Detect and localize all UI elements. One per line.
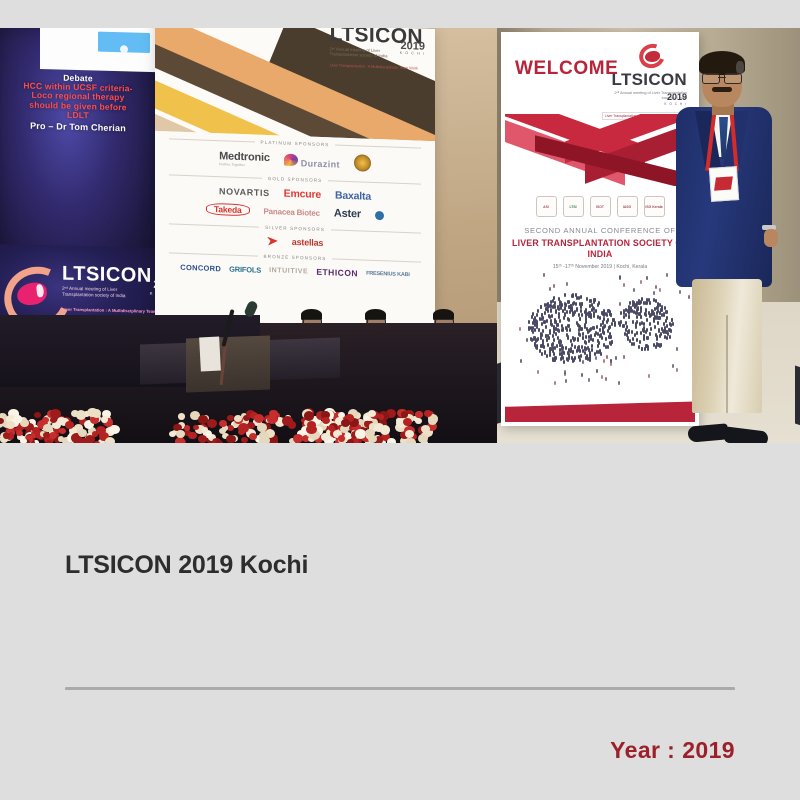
association-badge-ltsi: LTSI xyxy=(563,196,584,217)
sponsor-logo-aster: Aster xyxy=(334,207,361,220)
year-label: Year : xyxy=(610,737,675,763)
slide-line-6: Pro – Dr Tom Cherian xyxy=(0,121,162,135)
sponsor-banner: LTSICON 2ⁿᵈ Annual meeting of Liver Tran… xyxy=(155,28,435,329)
delegate-person xyxy=(666,43,786,443)
person-conference-badge xyxy=(709,166,739,202)
person-hair xyxy=(699,51,745,75)
sponsor-logo-baxalta: Baxalta xyxy=(335,189,371,202)
person-leg-split xyxy=(726,315,728,413)
slide-blue-dot xyxy=(120,45,128,53)
liver-crowd-artwork xyxy=(519,272,689,382)
durazint-swirl-icon xyxy=(284,153,298,166)
sponsor-logo-concord: CONCORD xyxy=(180,262,221,272)
association-badge-isg-kerala: ISG Kerala xyxy=(644,196,665,217)
sponsor-logo-intuitive: INTUITIVE xyxy=(269,267,308,275)
page-title: LTSICON 2019 Kochi xyxy=(65,551,308,580)
welcome-standee-photo: WELCOME LTSICON 2ⁿᵈ Annual meeting of Li… xyxy=(497,28,800,443)
sponsor-logo-emcure: Emcure xyxy=(284,188,321,201)
association-badge-iasg: IASG xyxy=(617,196,638,217)
ltsicon-logo-icon xyxy=(639,44,665,68)
year-value: 2019 xyxy=(682,737,735,763)
banner-ltsicon-wordmark: LTSICON 2ⁿᵈ Annual meeting of Liver Tran… xyxy=(330,28,423,61)
sponsor-logo-medtronic: Medtronic Further, Together xyxy=(219,150,270,168)
projection-slide-text: Debate HCC within UCSF criteria- Loco re… xyxy=(0,72,162,135)
person-moustache xyxy=(712,87,732,92)
screen-wordmark-subtitle: 2ⁿᵈ Annual meeting of Liver Transplantat… xyxy=(62,286,128,299)
banner-wordmark-city: K O C H I xyxy=(400,51,425,56)
flower-arrangement xyxy=(300,407,430,443)
sponsor-name-durazint: Durazint xyxy=(301,158,340,169)
slide-white-area xyxy=(40,28,160,72)
person-glasses-icon xyxy=(702,73,742,82)
screen-wordmark-text: LTSICON xyxy=(62,264,152,286)
divider xyxy=(65,687,735,690)
welcome-heading: WELCOME xyxy=(515,58,618,80)
year-line: Year :2019 xyxy=(610,737,735,764)
sponsor-name-aster: Aster xyxy=(334,207,361,220)
aster-dot-icon xyxy=(375,210,384,219)
person-hand xyxy=(764,229,778,247)
banner-wordmark-subtitle: 2ⁿᵈ Annual meeting of Liver Transplantat… xyxy=(330,46,394,59)
sponsor-logo-ethicon: ETHICON xyxy=(316,267,358,279)
standee-foot-right xyxy=(795,366,800,427)
sponsor-banner-header: LTSICON 2ⁿᵈ Annual meeting of Liver Tran… xyxy=(155,28,435,141)
sponsor-logo-panacea: Panacea Biotec xyxy=(264,206,320,217)
sponsor-logo-novartis: NOVARTIS xyxy=(219,186,270,198)
sponsor-logo-takeda: Takeda xyxy=(206,203,249,217)
conference-hall-photo: Debate HCC within UCSF criteria- Loco re… xyxy=(0,28,497,443)
ltsicon-logo-icon xyxy=(4,266,56,315)
astellas-mark-icon xyxy=(267,236,278,245)
photo-collage: Debate HCC within UCSF criteria- Loco re… xyxy=(0,28,800,443)
page-root: Debate HCC within UCSF criteria- Loco re… xyxy=(0,0,800,800)
person-shoe-right xyxy=(723,426,769,443)
association-badge-asi: ASI xyxy=(536,196,557,217)
sponsor-logo-astellas: astellas xyxy=(292,237,323,248)
screen-ltsicon-wordmark: LTSICON 2ⁿᵈ Annual meeting of Liver Tran… xyxy=(62,264,152,300)
podium-paper xyxy=(199,336,221,371)
person-shoe-left xyxy=(687,423,728,442)
sponsor-logo-fresenius-kabi: FRESENIUS KABI xyxy=(366,271,410,279)
association-badge-isot: ISOT xyxy=(590,196,611,217)
screen-wordmark-tagline: Liver Transplantation : A Multidisciplin… xyxy=(62,307,168,315)
govt-emblem-icon xyxy=(354,154,371,172)
flower-arrangement xyxy=(0,407,110,443)
sponsor-logo-grifols: GRIFOLS xyxy=(229,264,261,274)
sponsor-logo-durazint: Durazint xyxy=(284,153,340,169)
